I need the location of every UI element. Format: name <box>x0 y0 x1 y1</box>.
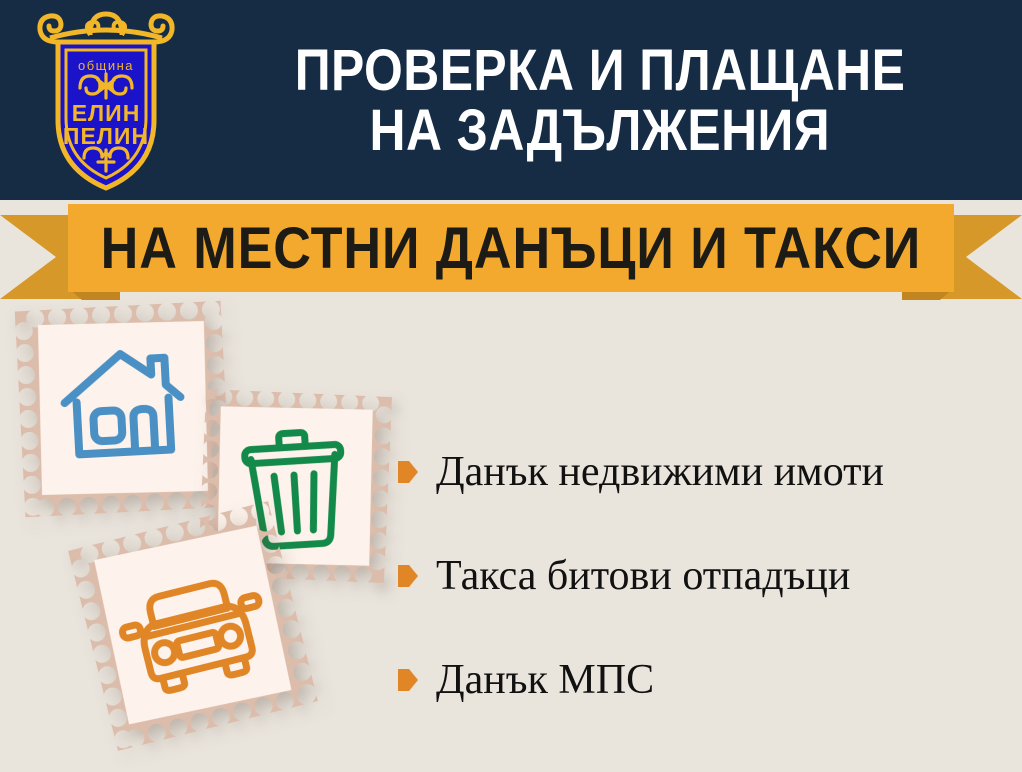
ribbon-text: НА МЕСТНИ ДАНЪЦИ И ТАКСИ <box>101 215 922 282</box>
stamp-collage <box>0 296 420 772</box>
header-banner: община ЕЛИН ПЕЛИН <box>0 0 1022 200</box>
arrow-bullet-icon <box>398 459 418 485</box>
list-item-label: Данък недвижими имоти <box>436 450 884 494</box>
poster-root: община ЕЛИН ПЕЛИН <box>0 0 1022 772</box>
title-line-2: НА ЗАДЪЛЖЕНИЯ <box>370 101 831 161</box>
title-line-1: ПРОВЕРКА И ПЛАЩАНЕ <box>295 41 906 101</box>
poster-title: ПРОВЕРКА И ПЛАЩАНЕ НА ЗАДЪЛЖЕНИЯ <box>190 16 1010 186</box>
arrow-bullet-icon <box>398 667 418 693</box>
arrow-bullet-icon <box>398 563 418 589</box>
ribbon-body: НА МЕСТНИ ДАНЪЦИ И ТАКСИ <box>68 204 954 292</box>
list-item[interactable]: Данък недвижими имоти <box>398 420 1018 524</box>
subtitle-ribbon: НА МЕСТНИ ДАНЪЦИ И ТАКСИ <box>0 196 1022 306</box>
crest-name-line-2: ПЕЛИН <box>63 123 149 149</box>
crest-municipality-word: община <box>78 58 134 73</box>
list-item[interactable]: Данък МПС <box>398 628 1018 732</box>
list-item-label: Такса битови отпадъци <box>436 554 850 598</box>
municipality-crest: община ЕЛИН ПЕЛИН <box>28 8 184 194</box>
crest-icon: община ЕЛИН ПЕЛИН <box>28 8 184 194</box>
tax-type-list: Данък недвижими имоти Такса битови отпад… <box>398 420 1018 732</box>
list-item-label: Данък МПС <box>436 658 654 702</box>
list-item[interactable]: Такса битови отпадъци <box>398 524 1018 628</box>
